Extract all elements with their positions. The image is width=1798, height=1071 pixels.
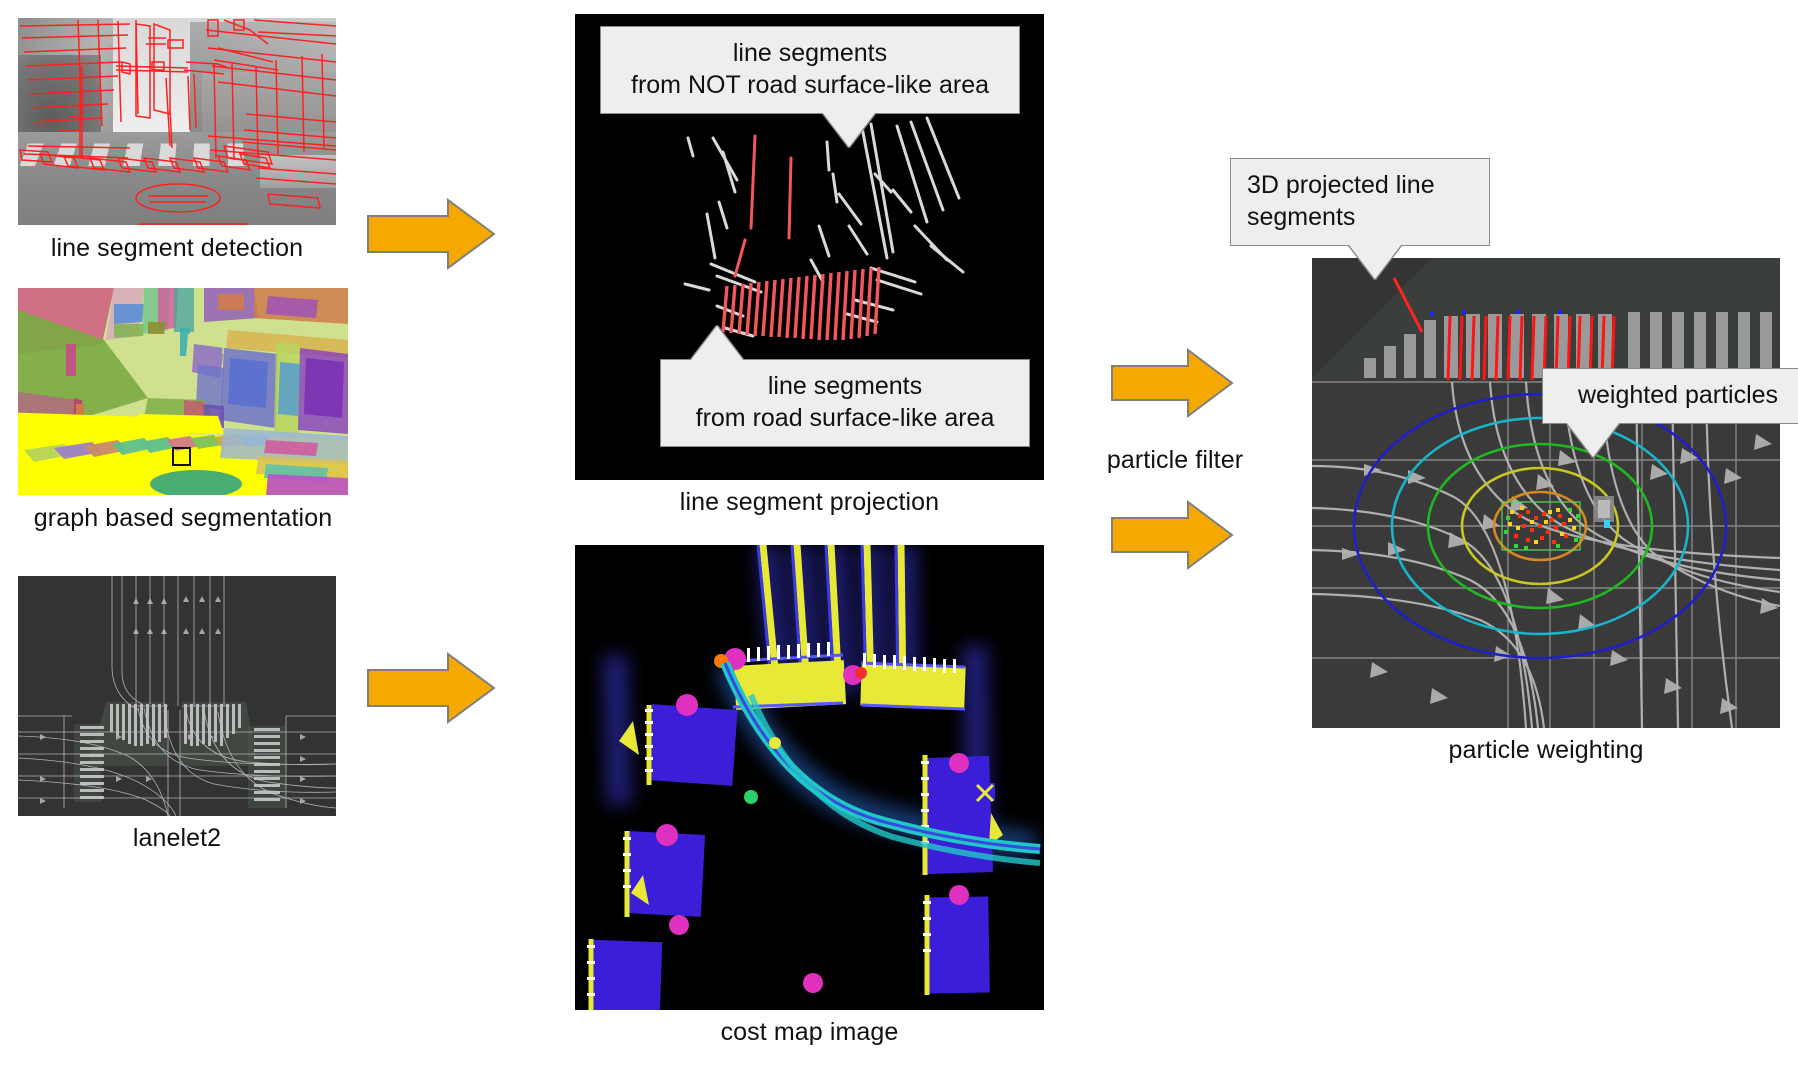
callout-not-road-tail bbox=[823, 113, 875, 147]
callout-not-road-segments: line segments from NOT road surface-like… bbox=[600, 26, 1020, 114]
callout-weighted-line1: weighted particles bbox=[1559, 379, 1797, 411]
caption-lanelet2: lanelet2 bbox=[18, 824, 336, 853]
segmentation-regions bbox=[18, 288, 348, 495]
arrow-detection-to-projection bbox=[366, 198, 496, 270]
arrow-costmap-to-weighting bbox=[1110, 500, 1234, 570]
detected-line-segments-overlay bbox=[18, 18, 336, 225]
panel-graph-based-segmentation bbox=[18, 288, 348, 495]
panel-particle-weighting: 3D projected line segments weighted part… bbox=[1312, 258, 1780, 728]
image-cost-map bbox=[575, 545, 1044, 1010]
callout-not-road-line1: line segments bbox=[617, 37, 1003, 69]
image-graph-based-segmentation bbox=[18, 288, 348, 495]
caption-line-segment-projection: line segment projection bbox=[575, 488, 1044, 517]
panel-lanelet2 bbox=[18, 576, 336, 816]
label-particle-filter: particle filter bbox=[1090, 446, 1260, 475]
caption-cost-map-image: cost map image bbox=[575, 1018, 1044, 1047]
arrow-lanelet-to-costmap bbox=[366, 652, 496, 724]
caption-particle-weighting: particle weighting bbox=[1312, 736, 1780, 765]
callout-road-segments: line segments from road surface-like are… bbox=[660, 359, 1030, 447]
image-particle-weighting bbox=[1312, 258, 1780, 728]
callout-3d-projected-segments: 3D projected line segments bbox=[1230, 158, 1490, 246]
callout-not-road-line2: from NOT road surface-like area bbox=[617, 69, 1003, 101]
panel-cost-map-image bbox=[575, 545, 1044, 1010]
panel-line-segment-detection bbox=[18, 18, 336, 225]
caption-line-segment-detection: line segment detection bbox=[18, 234, 336, 263]
cost-map-graphic bbox=[575, 545, 1044, 1010]
image-line-segment-detection bbox=[18, 18, 336, 225]
arrow-projection-to-weighting bbox=[1110, 348, 1234, 418]
caption-graph-based-segmentation: graph based segmentation bbox=[18, 504, 348, 533]
callout-road-line1: line segments bbox=[677, 370, 1013, 402]
image-lanelet2 bbox=[18, 576, 336, 816]
particle-weighting-graphic bbox=[1312, 258, 1780, 728]
callout-road-tail bbox=[691, 326, 743, 360]
callout-weighted-particles: weighted particles bbox=[1542, 368, 1798, 424]
lanelet-map-graphic bbox=[18, 576, 336, 816]
panel-line-segment-projection: line segments from NOT road surface-like… bbox=[575, 14, 1044, 480]
callout-projected-tail bbox=[1349, 245, 1401, 279]
callout-projected-line2: segments bbox=[1247, 201, 1473, 233]
callout-weighted-tail bbox=[1567, 423, 1619, 457]
callout-projected-line1: 3D projected line bbox=[1247, 169, 1473, 201]
callout-road-line2: from road surface-like area bbox=[677, 402, 1013, 434]
